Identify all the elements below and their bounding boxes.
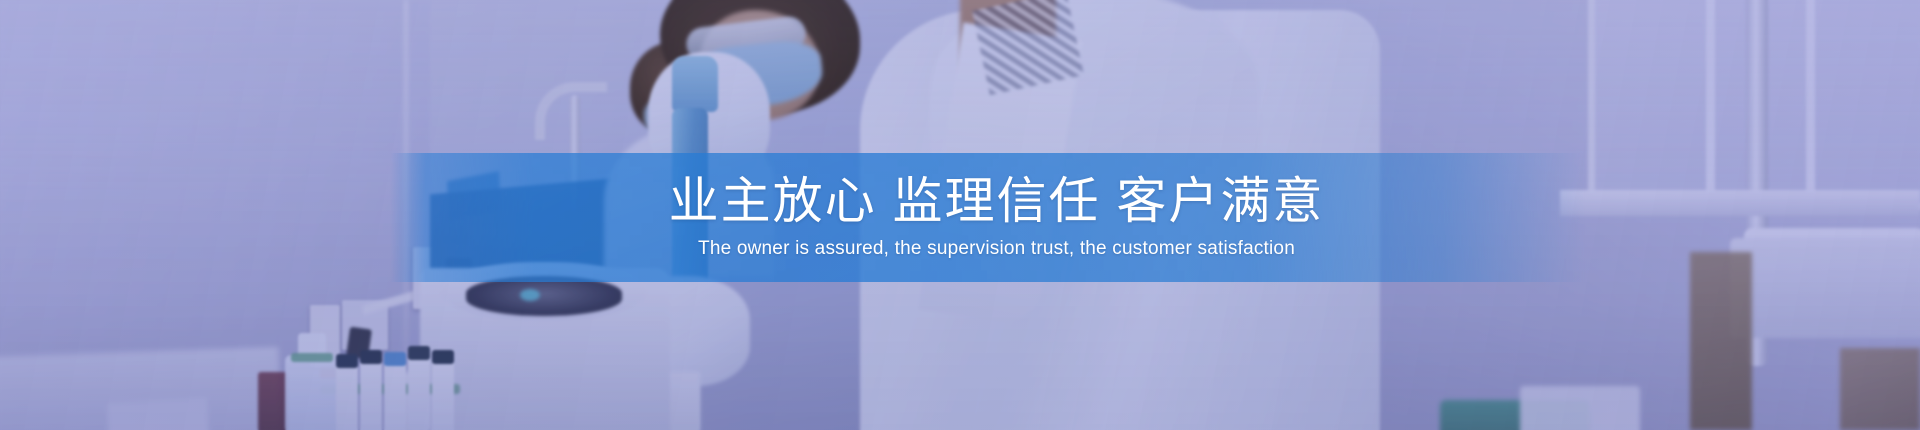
banner-text-group: 业主放心 监理信任 客户满意 The owner is assured, the… bbox=[390, 153, 1585, 282]
banner-headline: 业主放心 监理信任 客户满意 bbox=[651, 175, 1325, 228]
hero-banner: 业主放心 监理信任 客户满意 The owner is assured, the… bbox=[0, 0, 1920, 430]
banner-subheadline: The owner is assured, the supervision tr… bbox=[680, 238, 1295, 261]
